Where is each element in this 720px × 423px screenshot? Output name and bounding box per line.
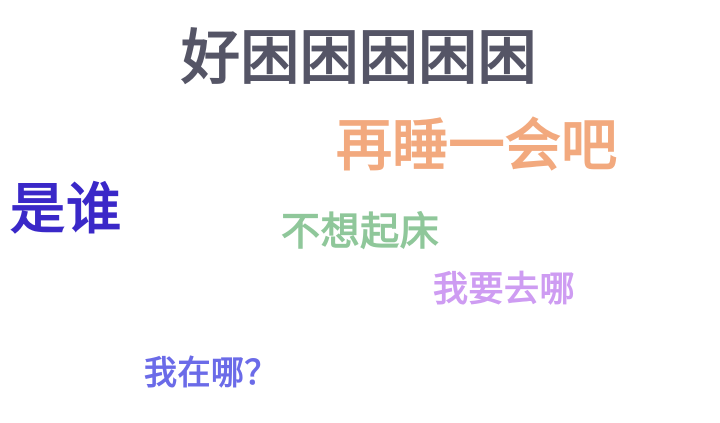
poster-canvas: 好困困困困困 再睡一会吧 是谁 不想起床 我要去哪 我在哪？ (0, 0, 720, 423)
text-where-am-i: 我在哪？ (144, 356, 278, 389)
text-who-is-it: 是谁 (10, 182, 122, 237)
text-dont-want-to-get-up: 不想起床 (281, 213, 439, 252)
text-so-sleepy: 好困困困困困 (181, 28, 537, 87)
text-where-am-i-going: 我要去哪 (433, 273, 575, 308)
text-sleep-a-bit-more: 再睡一会吧 (336, 119, 617, 175)
